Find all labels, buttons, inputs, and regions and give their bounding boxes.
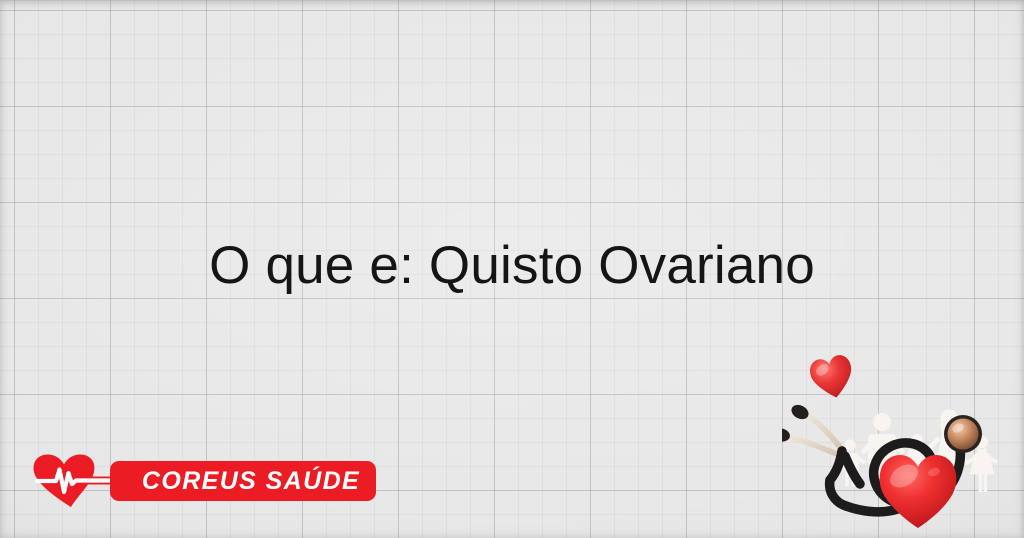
slide-canvas: O que e: Quisto Ovariano COREUS SAÚDE	[0, 0, 1024, 538]
heart-ecg-icon	[30, 454, 114, 508]
brand-badge: COREUS SAÚDE	[110, 461, 376, 501]
health-family-stethoscope-illustration	[782, 352, 1018, 534]
page-title: O que e: Quisto Ovariano	[0, 236, 1024, 296]
brand-logo: COREUS SAÚDE	[30, 452, 350, 510]
stethoscope-chestpiece	[944, 415, 982, 453]
small-heart-icon	[808, 353, 857, 402]
brand-name-text: COREUS SAÚDE	[126, 469, 360, 494]
stethoscope-ear-tubes	[783, 414, 844, 457]
